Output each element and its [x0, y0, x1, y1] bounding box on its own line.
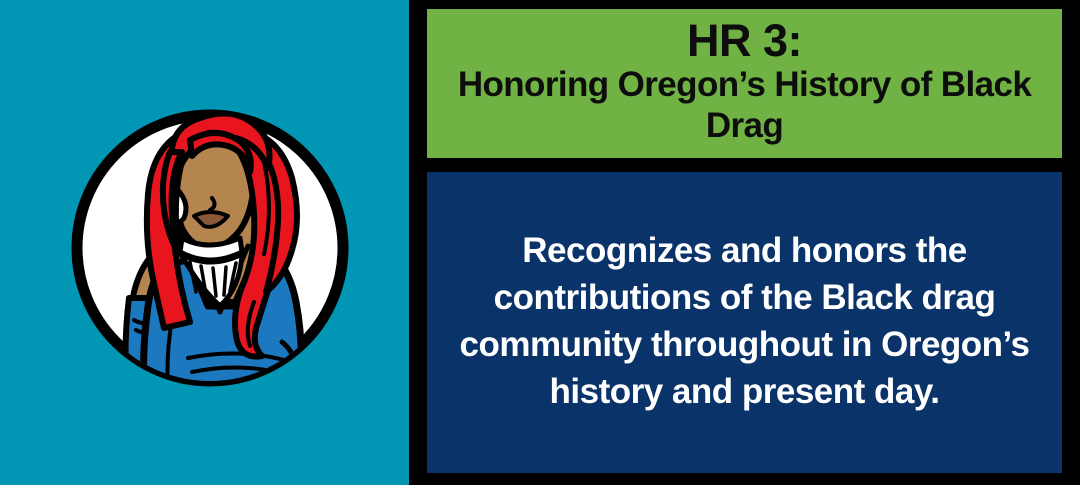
bill-summary-text: Recognizes and honors the contributions …	[449, 227, 1040, 415]
right-panel-stack: HR 3: Honoring Oregon’s History of Black…	[409, 0, 1080, 485]
bill-title-banner: HR 3: Honoring Oregon’s History of Black…	[427, 9, 1062, 158]
portrait-panel	[0, 0, 409, 485]
bill-number: HR 3:	[687, 18, 802, 64]
bill-title: Honoring Oregon’s History of Black Drag	[439, 64, 1050, 146]
bill-summary-banner: Recognizes and honors the contributions …	[427, 172, 1062, 473]
bill-info-card: HR 3: Honoring Oregon’s History of Black…	[0, 0, 1080, 485]
drag-performer-portrait-icon	[68, 106, 352, 390]
